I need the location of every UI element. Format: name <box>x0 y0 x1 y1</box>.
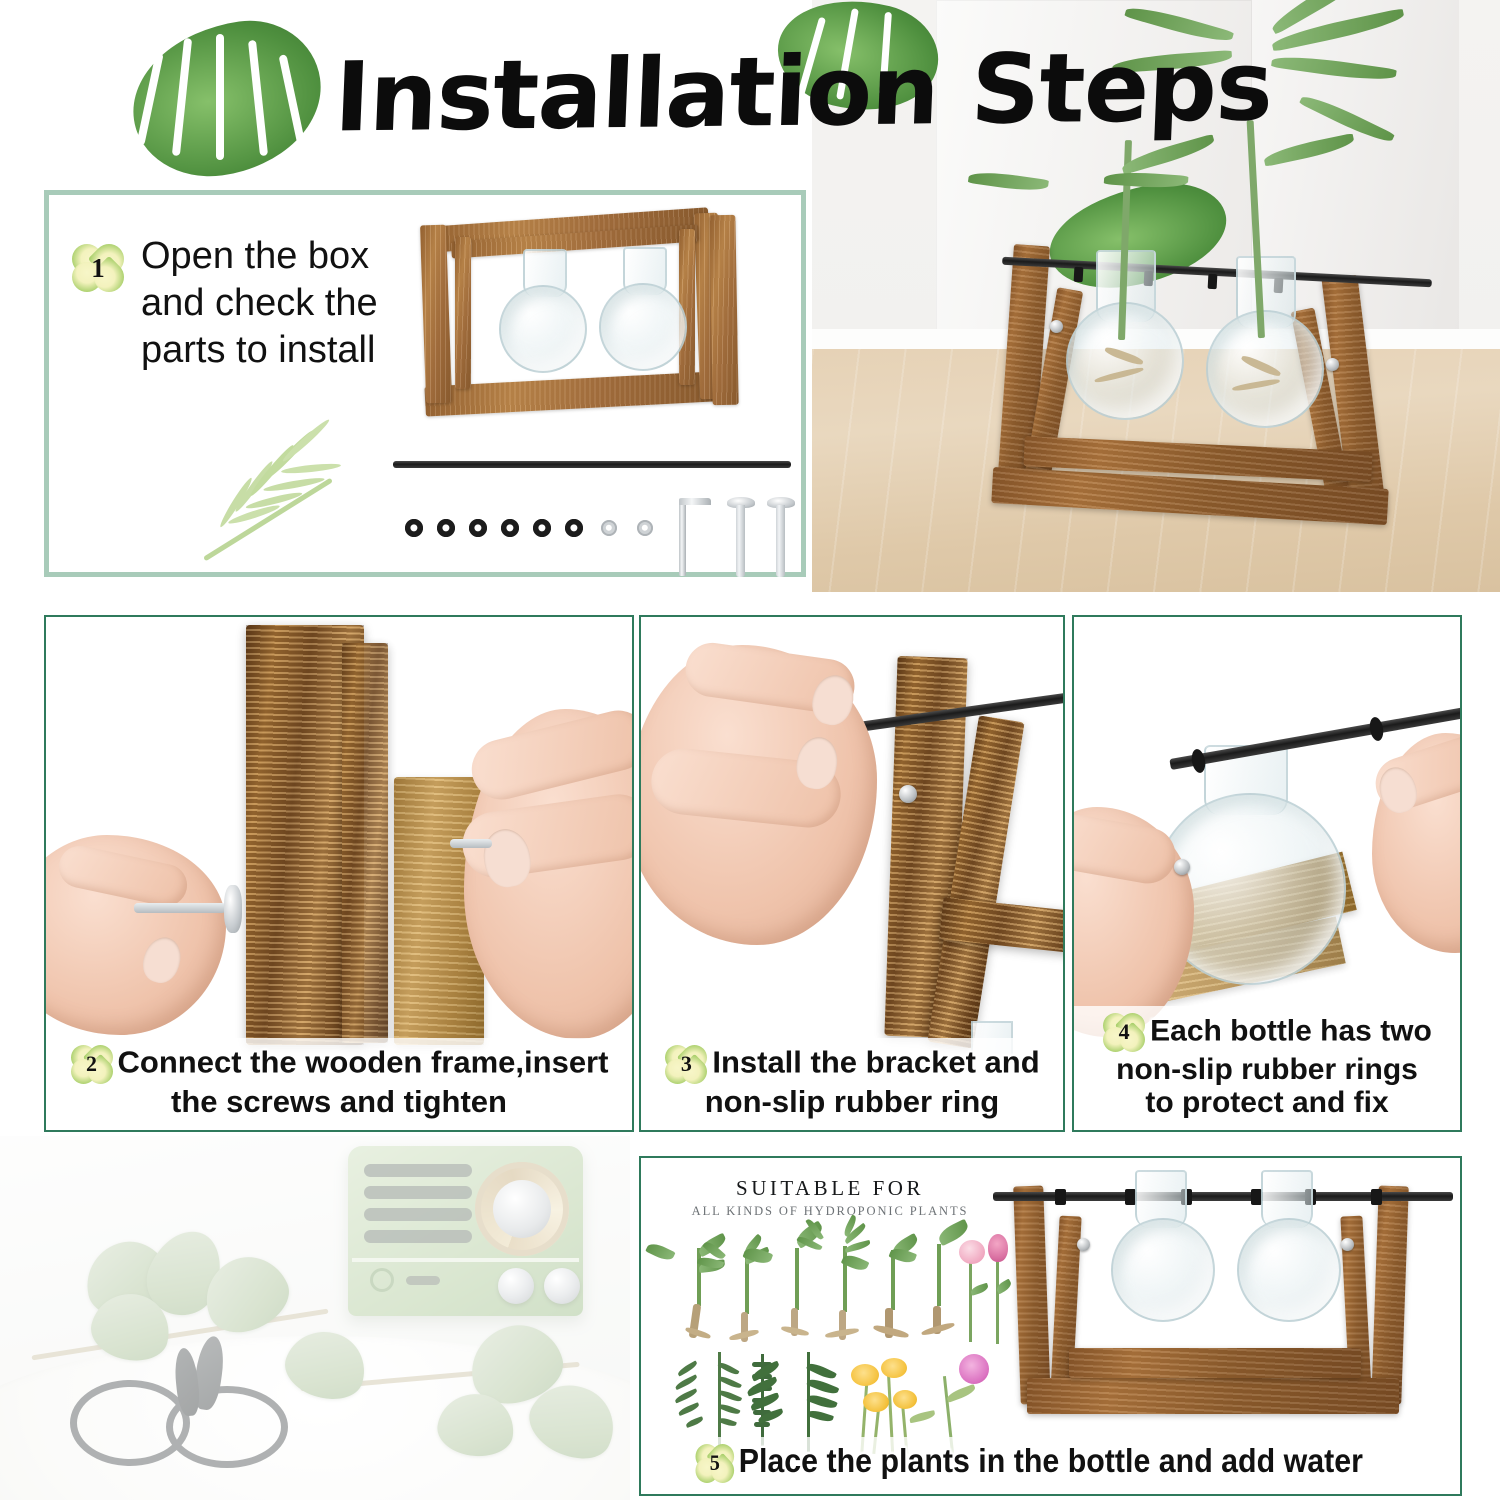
parts-list-photo <box>389 443 799 571</box>
burnt-wood-post-side <box>342 643 388 1043</box>
step-1-line-1: Open the box <box>141 233 413 280</box>
metal-rod-part <box>393 461 791 468</box>
screw-head <box>1174 859 1190 875</box>
radio-trim <box>352 1258 579 1262</box>
step-2-number: 2 <box>70 1044 114 1085</box>
rubber-ring <box>1055 1189 1066 1205</box>
wood-leg-left-outer <box>1013 1186 1051 1405</box>
step-1-number: 1 <box>71 243 125 293</box>
step-1-panel: 1 Open the box and check the parts to in… <box>44 190 806 577</box>
step-5-number: 5 <box>695 1443 735 1484</box>
step-2-caption: 2 Connect the wooden frame,insert the sc… <box>46 1038 632 1130</box>
glass-bulb-vase <box>599 283 687 371</box>
step-4-text-1: Each bottle has two <box>1150 1014 1432 1047</box>
step-3-caption-line-1: 3 Install the bracket and <box>649 1044 1055 1085</box>
glass-bulb-vase <box>499 285 587 373</box>
page-title: Installation Steps <box>333 37 1238 149</box>
rubber-ring <box>1368 716 1385 742</box>
step-1-line-3: parts to install <box>141 327 413 374</box>
rubber-ring-part <box>501 519 519 537</box>
rubber-ring <box>1208 274 1218 289</box>
step-5-caption: 5 Place the plants in the bottle and add… <box>641 1437 1460 1494</box>
step-5-text-1: Place the plants in the bottle and add w… <box>739 1442 1363 1479</box>
step-3-panel: 3 Install the bracket and non-slip rubbe… <box>639 615 1065 1132</box>
rubber-ring-part <box>565 519 583 537</box>
step-3-number: 3 <box>664 1044 708 1085</box>
infographic-page: Installation Steps 1 Open the box and ch… <box>0 0 1500 1500</box>
rubber-ring <box>1074 267 1084 282</box>
screw-head <box>899 785 917 803</box>
step-2-caption-line-2: the screws and tighten <box>54 1085 624 1120</box>
palm-frond-icon <box>189 413 359 543</box>
suitable-for-subtitle: ALL KINDS OF HYDROPONIC PLANTS <box>665 1204 995 1219</box>
rubber-ring-part <box>437 519 455 537</box>
screw-head <box>1341 1238 1354 1251</box>
step-4-panel: 4 Each bottle has two non-slip rubber ri… <box>1072 615 1462 1132</box>
lifestyle-photo <box>0 1136 630 1500</box>
suitable-for-title: SUITABLE FOR <box>665 1176 995 1201</box>
step-5-panel: SUITABLE FOR ALL KINDS OF HYDROPONIC PLA… <box>639 1156 1462 1496</box>
step-4-caption: 4 Each bottle has two non-slip rubber ri… <box>1074 1006 1460 1130</box>
washer-part <box>637 520 653 536</box>
wooden-stand <box>874 240 1474 592</box>
rubber-ring <box>1371 1189 1382 1205</box>
step-4-caption-line-3: to protect and fix <box>1082 1086 1452 1120</box>
step-4-badge: 4 <box>1102 1012 1146 1053</box>
radio-logo <box>370 1268 394 1292</box>
suitable-for-heading: SUITABLE FOR ALL KINDS OF HYDROPONIC PLA… <box>665 1176 995 1219</box>
step-1-line-2: and check the <box>141 280 413 327</box>
radio-knob <box>544 1268 580 1304</box>
retro-radio-icon <box>348 1146 583 1316</box>
rubber-ring-part <box>533 519 551 537</box>
rubber-ring-part <box>405 519 423 537</box>
glass-bulb-vase <box>1111 1218 1215 1322</box>
step-4-caption-line-1: 4 Each bottle has two <box>1082 1012 1452 1053</box>
radio-slot <box>406 1276 440 1285</box>
rose-icon <box>957 1236 987 1346</box>
step-5-caption-line-1: 5 Place the plants in the bottle and add… <box>695 1443 1421 1484</box>
step-4-number: 4 <box>1102 1012 1146 1053</box>
grass-cutting-icon <box>817 1226 873 1354</box>
step-3-badge: 3 <box>664 1044 708 1085</box>
step-2-panel: 2 Connect the wooden frame,insert the sc… <box>44 615 634 1132</box>
screw-head <box>1077 1238 1090 1251</box>
step-2-text-1: Connect the wooden frame,insert <box>118 1045 609 1080</box>
disassembled-frame-photo <box>411 207 763 435</box>
radio-knob <box>498 1268 534 1304</box>
washer-part <box>601 520 617 536</box>
rubber-ring-part <box>469 519 487 537</box>
step-2-badge: 2 <box>70 1044 114 1085</box>
step-2-caption-line-1: 2 Connect the wooden frame,insert <box>54 1044 624 1085</box>
radio-speaker-grille <box>364 1164 472 1256</box>
step-4-caption-line-2: non-slip rubber rings <box>1082 1053 1452 1087</box>
step-1-badge: 1 <box>71 243 125 293</box>
step-5-badge: 5 <box>695 1443 735 1484</box>
step-1-text: Open the box and check the parts to inst… <box>141 233 413 374</box>
step-3-text-1: Install the bracket and <box>712 1045 1039 1080</box>
wood-base-front <box>1027 1378 1399 1414</box>
step-3-caption: 3 Install the bracket and non-slip rubbe… <box>641 1038 1063 1130</box>
wood-leg-right-outer <box>1371 1186 1409 1405</box>
plant-illustrations-row-1 <box>667 1226 1007 1354</box>
wood-base-back <box>1069 1348 1361 1378</box>
product-photo <box>993 1176 1460 1434</box>
step-3-caption-line-2: non-slip rubber ring <box>649 1085 1055 1120</box>
glass-bulb-vase <box>1237 1218 1341 1322</box>
screw-right <box>450 839 492 848</box>
radio-dial <box>475 1162 569 1256</box>
monstera-leaf-icon <box>132 24 322 179</box>
